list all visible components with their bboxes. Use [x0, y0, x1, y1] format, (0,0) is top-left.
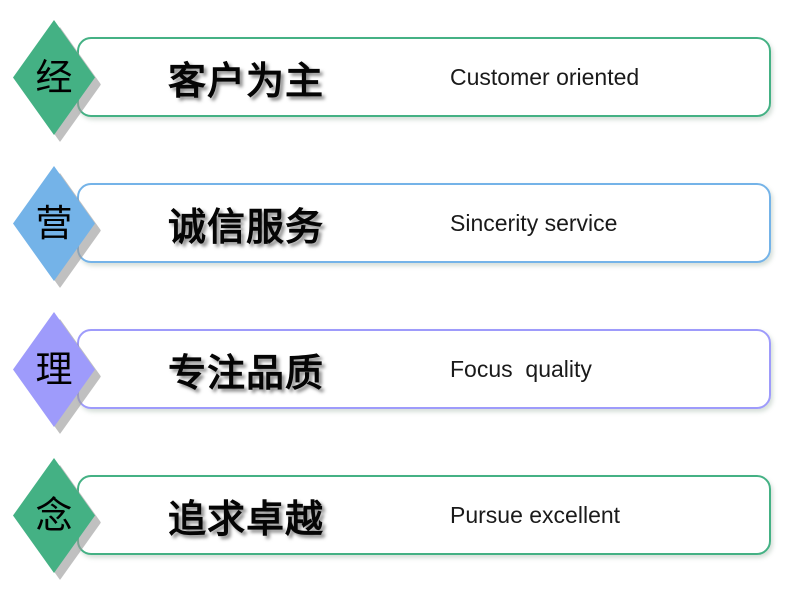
badge-diamond[interactable]: 理 — [13, 312, 95, 427]
badge-diamond[interactable]: 营 — [13, 166, 95, 281]
badge-diamond[interactable]: 念 — [13, 458, 95, 573]
list-item[interactable]: 经 客户为主 Customer oriented — [0, 0, 800, 146]
row-title-en: Pursue excellent — [450, 475, 770, 555]
slide-canvas: 经 客户为主 Customer oriented 营 诚信服务 Sincerit… — [0, 0, 800, 600]
row-title-cn: 追求卓越 — [168, 475, 428, 555]
row-title-cn: 专注品质 — [168, 329, 428, 409]
badge-character: 经 — [13, 20, 95, 135]
row-title-cn: 诚信服务 — [168, 183, 428, 263]
badge-character: 理 — [13, 312, 95, 427]
row-title-cn: 客户为主 — [168, 37, 428, 117]
badge-character: 念 — [13, 458, 95, 573]
row-title-en: Customer oriented — [450, 37, 770, 117]
list-item[interactable]: 理 专注品质 Focus quality — [0, 292, 800, 438]
row-title-en: Focus quality — [450, 329, 770, 409]
row-title-en: Sincerity service — [450, 183, 770, 263]
list-item[interactable]: 营 诚信服务 Sincerity service — [0, 146, 800, 292]
badge-character: 营 — [13, 166, 95, 281]
badge-diamond[interactable]: 经 — [13, 20, 95, 135]
list-item[interactable]: 念 追求卓越 Pursue excellent — [0, 438, 800, 584]
